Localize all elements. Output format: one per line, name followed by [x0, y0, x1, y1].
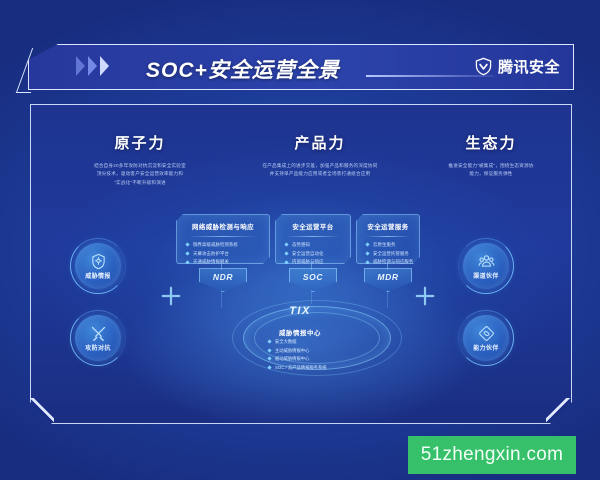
badge-channel-partner[interactable]: 渠道伙伴 [458, 238, 514, 294]
brand-logo: 腾讯安全 [475, 56, 560, 77]
column-description: 结合自身20多年攻防对抗沉淀和安全实验室 顶尖技术，驱动客户安全运营效率能力和 … [52, 162, 228, 187]
hub-feature-list: 安全大数据 主动威胁情报中心 被动威胁情报中心 SOC / 云产品情报服务系统 [268, 338, 327, 372]
list-item: 御界高级威胁检测系统 [186, 241, 269, 250]
card-title: 网络威胁检测与响应 [177, 222, 269, 231]
plus-icon-left [160, 285, 182, 307]
shield-icon [475, 57, 492, 76]
card-ndr[interactable]: 网络威胁检测与响应 御界高级威胁检测系统 天幕攻击防护平台 天通威胁情报网关 [176, 214, 270, 264]
column-ecosystem: 生态力 推进安全能力"被集成"，围绕生态资源协 能力，保证服务弹性 [412, 132, 570, 179]
tag-label: NDR [213, 272, 233, 282]
chevron-right-icon [76, 56, 85, 76]
badge-threat-intelligence[interactable]: 威胁情报 [70, 238, 126, 294]
card-mdr[interactable]: 安全运营服务 云原生服务 安全运营托管服务 威胁检测与响应服务 [356, 214, 420, 264]
badge-attack-defense[interactable]: 攻防对抗 [70, 310, 126, 366]
list-item: 安全运营托管服务 [366, 250, 419, 259]
tag-label: SOC [303, 272, 323, 282]
badge-capability-partner[interactable]: 能力伙伴 [458, 310, 514, 366]
card-divider [286, 236, 341, 237]
threat-intel-icon [90, 253, 107, 270]
column-description: 在产品集成上的进步交差，加强产品和服务的深度协同 并支持单产品能力应用或者全场景… [232, 162, 408, 179]
column-title: 原子力 [52, 132, 228, 153]
card-feature-list: 御界高级威胁检测系统 天幕攻击防护平台 天通威胁情报网关 [177, 241, 269, 267]
badge-label: 攻防对抗 [85, 343, 111, 352]
chevron-group [76, 56, 109, 76]
column-atomic: 原子力 结合自身20多年攻防对抗沉淀和安全实验室 顶尖技术，驱动客户安全运营效率… [52, 132, 228, 187]
card-divider [365, 236, 411, 237]
badge-label: 威胁情报 [85, 271, 111, 280]
list-item: 被动威胁情报中心 [268, 355, 327, 364]
tag-label: MDR [377, 272, 398, 282]
card-soc[interactable]: 安全运营平台 态势感知 安全运营自动化 内部威胁与响应 [275, 214, 351, 264]
badge-label: 渠道伙伴 [473, 271, 499, 280]
badge-core: 威胁情报 [75, 243, 121, 289]
header-bar: SOC+安全运营全景 腾讯安全 [28, 44, 574, 90]
badge-core: 能力伙伴 [463, 315, 509, 361]
list-item: 态势感知 [285, 241, 350, 250]
card-title: 安全运营服务 [357, 222, 419, 231]
column-product: 产品力 在产品集成上的进步交差，加强产品和服务的深度协同 并支持单产品能力应用或… [232, 132, 408, 179]
plus-icon-right [414, 285, 436, 307]
column-title: 生态力 [412, 132, 570, 153]
page-title: SOC+安全运营全景 [146, 54, 340, 84]
badge-label: 能力伙伴 [473, 343, 499, 352]
watermark-text: 51zhengxin.com [421, 444, 564, 466]
list-item: 云原生服务 [366, 241, 419, 250]
card-divider [189, 236, 257, 237]
column-title: 产品力 [232, 132, 408, 153]
channel-partner-icon [478, 253, 495, 270]
card-feature-list: 态势感知 安全运营自动化 内部威胁与响应 [276, 241, 350, 267]
list-item: 安全运营自动化 [285, 250, 350, 259]
column-description: 推进安全能力"被集成"，围绕生态资源协 能力，保证服务弹性 [412, 162, 570, 179]
poster-canvas: SOC+安全运营全景 腾讯安全 原子力 结合自身20多年攻防对抗沉淀和安全实验室… [0, 0, 600, 480]
hub-code: TIX [0, 305, 600, 317]
hub-title: 威胁情报中心 [0, 328, 600, 337]
card-title: 安全运营平台 [276, 222, 350, 231]
badge-core: 攻防对抗 [75, 315, 121, 361]
chevron-right-icon [88, 56, 97, 76]
badge-core: 渠道伙伴 [463, 243, 509, 289]
list-item: 主动威胁情报中心 [268, 347, 327, 356]
watermark-badge: 51zhengxin.com [408, 436, 576, 474]
brand-name: 腾讯安全 [498, 56, 560, 77]
list-item: 安全大数据 [268, 338, 327, 347]
card-feature-list: 云原生服务 安全运营托管服务 威胁检测与响应服务 [357, 241, 419, 267]
list-item: 天幕攻击防护平台 [186, 250, 269, 259]
chevron-right-icon [100, 56, 109, 76]
list-item: SOC / 云产品情报服务系统 [268, 364, 327, 373]
